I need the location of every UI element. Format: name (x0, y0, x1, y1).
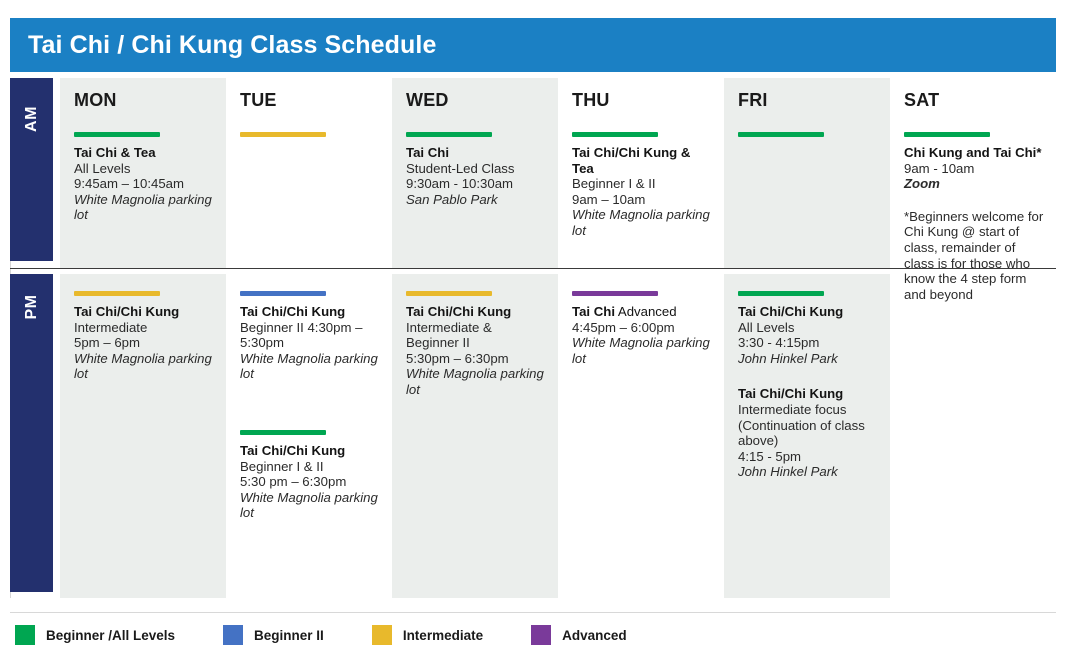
class-time: 9am - 10am (904, 161, 1044, 177)
legend: Beginner /All Levels Beginner II Interme… (10, 612, 1056, 657)
page-header: Tai Chi / Chi Kung Class Schedule (10, 18, 1056, 72)
class-entry[interactable]: Tai Chi/Chi Kung Intermediate 5pm – 6pm … (74, 291, 214, 382)
class-location: Zoom (904, 176, 1044, 192)
class-title-suffix: Advanced (615, 304, 677, 319)
page-title: Tai Chi / Chi Kung Class Schedule (10, 31, 436, 60)
schedule-row-am: AM MON Tai Chi & Tea All Levels 9:45am –… (10, 78, 1056, 268)
level-color-bar-blue (240, 291, 326, 296)
class-entry[interactable]: Tai Chi/Chi Kung Beginner I & II 5:30 pm… (240, 430, 380, 521)
legend-swatch-blue (223, 625, 243, 645)
schedule-page: Tai Chi / Chi Kung Class Schedule AM MON… (0, 0, 1066, 666)
class-entry[interactable]: Tai Chi/Chi Kung Intermediate focus (Con… (738, 386, 878, 480)
row-tab-am-label: AM (23, 99, 41, 139)
class-time: 3:30 - 4:15pm (738, 335, 878, 351)
day-column-wed-pm[interactable]: Tai Chi/Chi Kung Intermediate & Beginner… (392, 274, 558, 598)
class-location: John Hinkel Park (738, 351, 878, 367)
day-label-sat: SAT (904, 78, 1044, 115)
class-entry[interactable]: Tai Chi/Chi Kung Intermediate & Beginner… (406, 291, 546, 398)
day-column-thu-pm[interactable]: Tai Chi Advanced 4:45pm – 6:00pm White M… (558, 274, 724, 598)
level-color-bar-green (406, 132, 492, 137)
class-time: 5:30 pm – 6:30pm (240, 474, 380, 490)
day-column-fri-pm[interactable]: Tai Chi/Chi Kung All Levels 3:30 - 4:15p… (724, 274, 890, 598)
class-level: All Levels (74, 161, 214, 177)
day-column-wed-am[interactable]: WED Tai Chi Student-Led Class 9:30am - 1… (392, 78, 558, 268)
am-columns: MON Tai Chi & Tea All Levels 9:45am – 10… (60, 78, 1056, 268)
class-time: 5:30pm – 6:30pm (406, 351, 546, 367)
schedule-row-pm: PM Tai Chi/Chi Kung Intermediate 5pm – 6… (10, 274, 1056, 598)
class-location: San Pablo Park (406, 192, 546, 208)
level-color-bar-green (74, 132, 160, 137)
class-entry[interactable]: Tai Chi/Chi Kung Beginner II 4:30pm – 5:… (240, 291, 380, 382)
class-title-main: Tai Chi (572, 304, 615, 319)
class-level: Beginner I & II (240, 459, 380, 475)
class-level: Intermediate (74, 320, 214, 336)
class-title: Tai Chi (406, 145, 546, 161)
level-color-bar-green (240, 430, 326, 435)
row-tab-pm: PM (10, 274, 53, 592)
legend-swatch-green (15, 625, 35, 645)
legend-label: Intermediate (403, 628, 483, 643)
level-color-bar-green (738, 291, 824, 296)
class-time: 4:15 - 5pm (738, 449, 878, 465)
legend-item-advanced: Advanced (531, 625, 627, 645)
schedule-grid: AM MON Tai Chi & Tea All Levels 9:45am –… (10, 78, 1056, 598)
class-level: Intermediate & Beginner II (406, 320, 546, 351)
level-color-bar-green (572, 132, 658, 137)
day-column-sat-am[interactable]: SAT Chi Kung and Tai Chi* 9am - 10am Zoo… (890, 78, 1056, 268)
class-entry[interactable]: Tai Chi & Tea All Levels 9:45am – 10:45a… (74, 132, 214, 223)
day-column-mon-pm[interactable]: Tai Chi/Chi Kung Intermediate 5pm – 6pm … (60, 274, 226, 598)
class-entry[interactable] (240, 132, 380, 137)
class-entry[interactable]: Tai Chi Advanced 4:45pm – 6:00pm White M… (572, 291, 712, 366)
class-title: Tai Chi/Chi Kung (738, 304, 878, 320)
legend-item-beginner-ii: Beginner II (223, 625, 324, 645)
class-entry[interactable] (738, 132, 878, 137)
class-location: John Hinkel Park (738, 464, 878, 480)
class-time: 9:45am – 10:45am (74, 176, 214, 192)
class-level-note: (Continuation of class above) (738, 418, 878, 449)
legend-label: Beginner /All Levels (46, 628, 175, 643)
class-entry[interactable]: Tai Chi Student-Led Class 9:30am - 10:30… (406, 132, 546, 207)
legend-swatch-gold (372, 625, 392, 645)
class-level: Student-Led Class (406, 161, 546, 177)
day-column-fri-am[interactable]: FRI (724, 78, 890, 268)
class-level: All Levels (738, 320, 878, 336)
day-column-tue-am[interactable]: TUE (226, 78, 392, 268)
legend-label: Beginner II (254, 628, 324, 643)
class-entry[interactable]: Tai Chi/Chi Kung All Levels 3:30 - 4:15p… (738, 291, 878, 366)
class-location: White Magnolia parking lot (240, 351, 380, 382)
class-title: Tai Chi & Tea (74, 145, 214, 161)
class-time: 9am – 10am (572, 192, 712, 208)
row-tab-pm-label: PM (23, 287, 41, 327)
class-title: Tai Chi/Chi Kung (240, 443, 380, 459)
class-level: Intermediate focus (738, 402, 878, 418)
class-title: Tai Chi/Chi Kung (738, 386, 878, 402)
day-label-mon: MON (74, 78, 214, 115)
level-color-bar-gold (406, 291, 492, 296)
class-location: White Magnolia parking lot (74, 351, 214, 382)
class-time: 5pm – 6pm (74, 335, 214, 351)
legend-label: Advanced (562, 628, 627, 643)
class-location: White Magnolia parking lot (406, 366, 546, 397)
class-title: Tai Chi/Chi Kung & Tea (572, 145, 712, 176)
day-label-tue: TUE (240, 78, 380, 115)
class-location: White Magnolia parking lot (572, 335, 712, 366)
level-color-bar-gold (74, 291, 160, 296)
class-title: Tai Chi/Chi Kung (74, 304, 214, 320)
level-color-bar-gold (240, 132, 326, 137)
level-color-bar-purple (572, 291, 658, 296)
class-title: Chi Kung and Tai Chi* (904, 145, 1044, 161)
class-title: Tai Chi/Chi Kung (406, 304, 546, 320)
class-location: White Magnolia parking lot (572, 207, 712, 238)
class-time: 4:45pm – 6:00pm (572, 320, 712, 336)
day-label-wed: WED (406, 78, 546, 115)
day-column-mon-am[interactable]: MON Tai Chi & Tea All Levels 9:45am – 10… (60, 78, 226, 268)
legend-item-intermediate: Intermediate (372, 625, 483, 645)
class-time: 9:30am - 10:30am (406, 176, 546, 192)
level-color-bar-green (904, 132, 990, 137)
day-label-thu: THU (572, 78, 712, 115)
class-title: Tai Chi/Chi Kung (240, 304, 380, 320)
row-tab-am: AM (10, 78, 53, 261)
class-title: Tai Chi Advanced (572, 304, 712, 320)
class-level: Beginner I & II (572, 176, 712, 192)
class-location: White Magnolia parking lot (74, 192, 214, 223)
class-level: Beginner II 4:30pm – 5:30pm (240, 320, 380, 351)
day-column-tue-pm[interactable]: Tai Chi/Chi Kung Beginner II 4:30pm – 5:… (226, 274, 392, 598)
level-color-bar-green (738, 132, 824, 137)
day-label-fri: FRI (738, 78, 878, 115)
day-column-thu-am[interactable]: THU Tai Chi/Chi Kung & Tea Beginner I & … (558, 78, 724, 268)
legend-item-beginner-all-levels: Beginner /All Levels (15, 625, 175, 645)
legend-swatch-purple (531, 625, 551, 645)
class-location: White Magnolia parking lot (240, 490, 380, 521)
class-entry[interactable]: Tai Chi/Chi Kung & Tea Beginner I & II 9… (572, 132, 712, 239)
pm-columns: Tai Chi/Chi Kung Intermediate 5pm – 6pm … (60, 274, 1056, 598)
class-entry[interactable]: Chi Kung and Tai Chi* 9am - 10am Zoom (904, 132, 1044, 192)
day-column-sat-pm[interactable] (890, 274, 1056, 598)
